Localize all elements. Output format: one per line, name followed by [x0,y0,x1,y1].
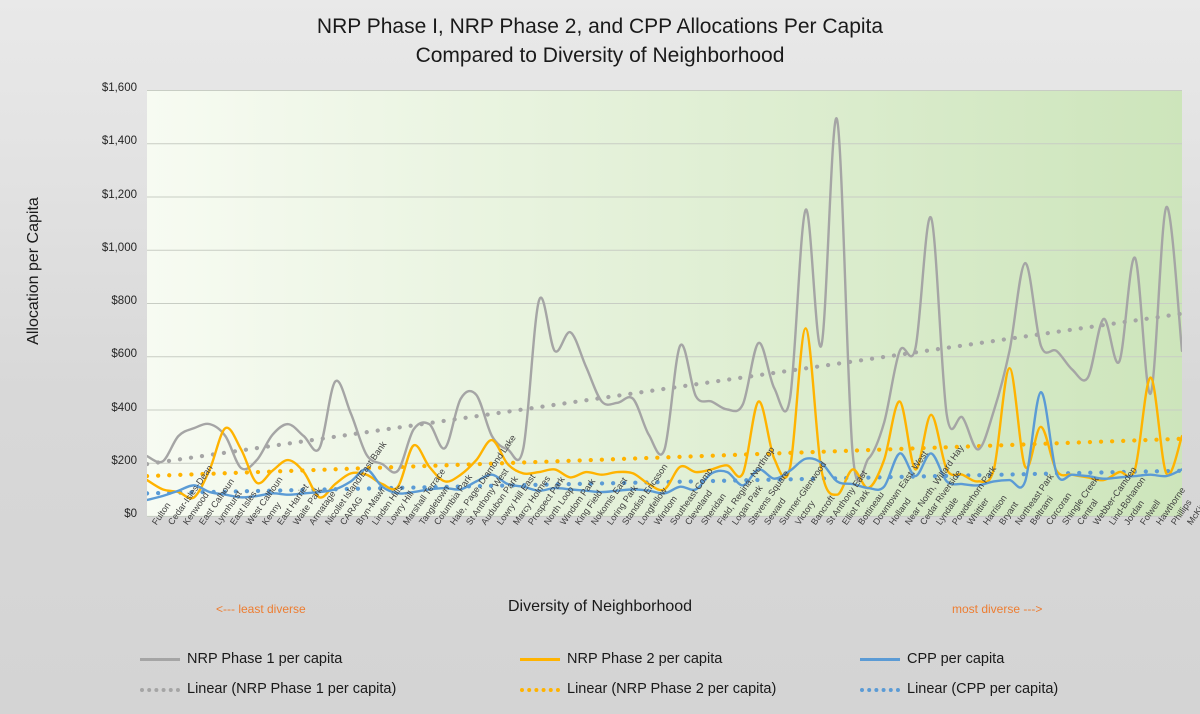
chart-container: NRP Phase I, NRP Phase 2, and CPP Alloca… [0,0,1200,714]
legend-item[interactable]: CPP per capita [860,651,1004,667]
legend-swatch-solid [140,658,180,661]
legend-swatch-dotted [520,688,560,692]
legend-item[interactable]: Linear (NRP Phase 2 per capita) [520,681,776,697]
legend-swatch-dotted [140,688,180,692]
legend-swatch-solid [860,658,900,661]
legend-label: Linear (CPP per capita) [907,681,1058,697]
legend-item[interactable]: Linear (CPP per capita) [860,681,1058,697]
legend-item[interactable]: NRP Phase 2 per capita [520,651,722,667]
legend-label: Linear (NRP Phase 1 per capita) [187,681,396,697]
legend-label: CPP per capita [907,651,1004,667]
legend-label: NRP Phase 2 per capita [567,651,722,667]
annotation-most-diverse: most diverse ---> [952,602,1042,616]
legend-item[interactable]: Linear (NRP Phase 1 per capita) [140,681,396,697]
x-axis-title: Diversity of Neighborhood [380,598,820,616]
legend-swatch-solid [520,658,560,661]
annotation-least-diverse: <--- least diverse [216,602,306,616]
legend-item[interactable]: NRP Phase 1 per capita [140,651,342,667]
legend-swatch-dotted [860,688,900,692]
chart-legend: NRP Phase 1 per capitaNRP Phase 2 per ca… [0,645,1200,711]
legend-label: Linear (NRP Phase 2 per capita) [567,681,776,697]
legend-label: NRP Phase 1 per capita [187,651,342,667]
